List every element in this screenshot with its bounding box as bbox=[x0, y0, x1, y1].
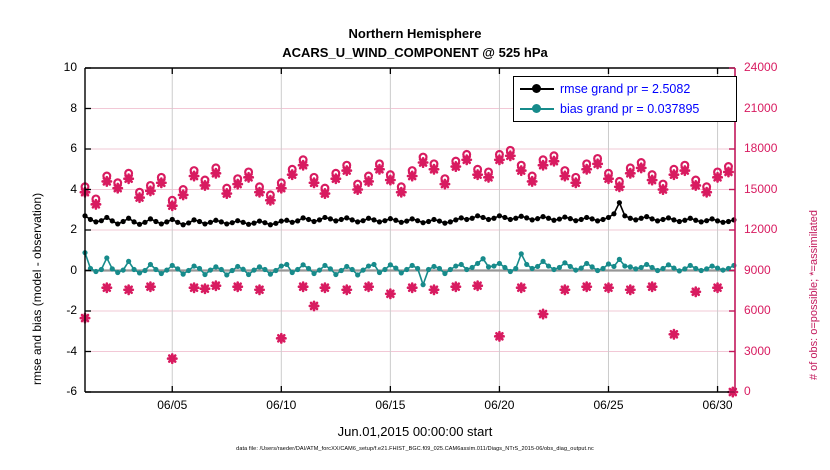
x-tick-4: 06/25 bbox=[578, 398, 638, 412]
y-tick-left-5: 4 bbox=[37, 182, 77, 196]
x-tick-1: 06/10 bbox=[251, 398, 311, 412]
legend-item-rmse: rmse grand pr = 2.5082 bbox=[520, 79, 690, 99]
y-tick-left-6: 6 bbox=[37, 141, 77, 155]
legend-marker-bias bbox=[520, 108, 554, 110]
legend-label-rmse: rmse grand pr = 2.5082 bbox=[560, 82, 690, 96]
y-tick-left-1: -4 bbox=[37, 344, 77, 358]
legend-marker-rmse bbox=[520, 88, 554, 90]
x-axis-label: Jun.01,2015 00:00:00 start bbox=[0, 424, 830, 439]
y-tick-right-3: 9000 bbox=[744, 263, 800, 277]
y-tick-right-7: 21000 bbox=[744, 101, 800, 115]
y-tick-left-8: 10 bbox=[37, 60, 77, 74]
y-tick-right-6: 18000 bbox=[744, 141, 800, 155]
y-tick-left-7: 8 bbox=[37, 101, 77, 115]
y-tick-left-0: -6 bbox=[37, 384, 77, 398]
y-tick-right-5: 15000 bbox=[744, 182, 800, 196]
data-file-footer: data file: /Users/raeder/DAI/ATM_forcXX/… bbox=[0, 446, 830, 452]
y-tick-left-2: -2 bbox=[37, 303, 77, 317]
legend-box: rmse grand pr = 2.5082 bias grand pr = 0… bbox=[513, 76, 737, 122]
y-tick-right-0: 0 bbox=[744, 384, 800, 398]
y-tick-right-2: 6000 bbox=[744, 303, 800, 317]
x-tick-0: 06/05 bbox=[142, 398, 202, 412]
y-tick-right-4: 12000 bbox=[744, 222, 800, 236]
y-tick-right-8: 24000 bbox=[744, 60, 800, 74]
x-tick-5: 06/30 bbox=[688, 398, 748, 412]
x-tick-2: 06/15 bbox=[360, 398, 420, 412]
y-tick-left-3: 0 bbox=[37, 263, 77, 277]
legend-item-bias: bias grand pr = 0.037895 bbox=[520, 99, 699, 119]
legend-label-bias: bias grand pr = 0.037895 bbox=[560, 102, 699, 116]
figure-canvas: Northern Hemisphere ACARS_U_WIND_COMPONE… bbox=[0, 0, 830, 470]
x-tick-3: 06/20 bbox=[469, 398, 529, 412]
y-tick-right-1: 3000 bbox=[744, 344, 800, 358]
y-tick-left-4: 2 bbox=[37, 222, 77, 236]
